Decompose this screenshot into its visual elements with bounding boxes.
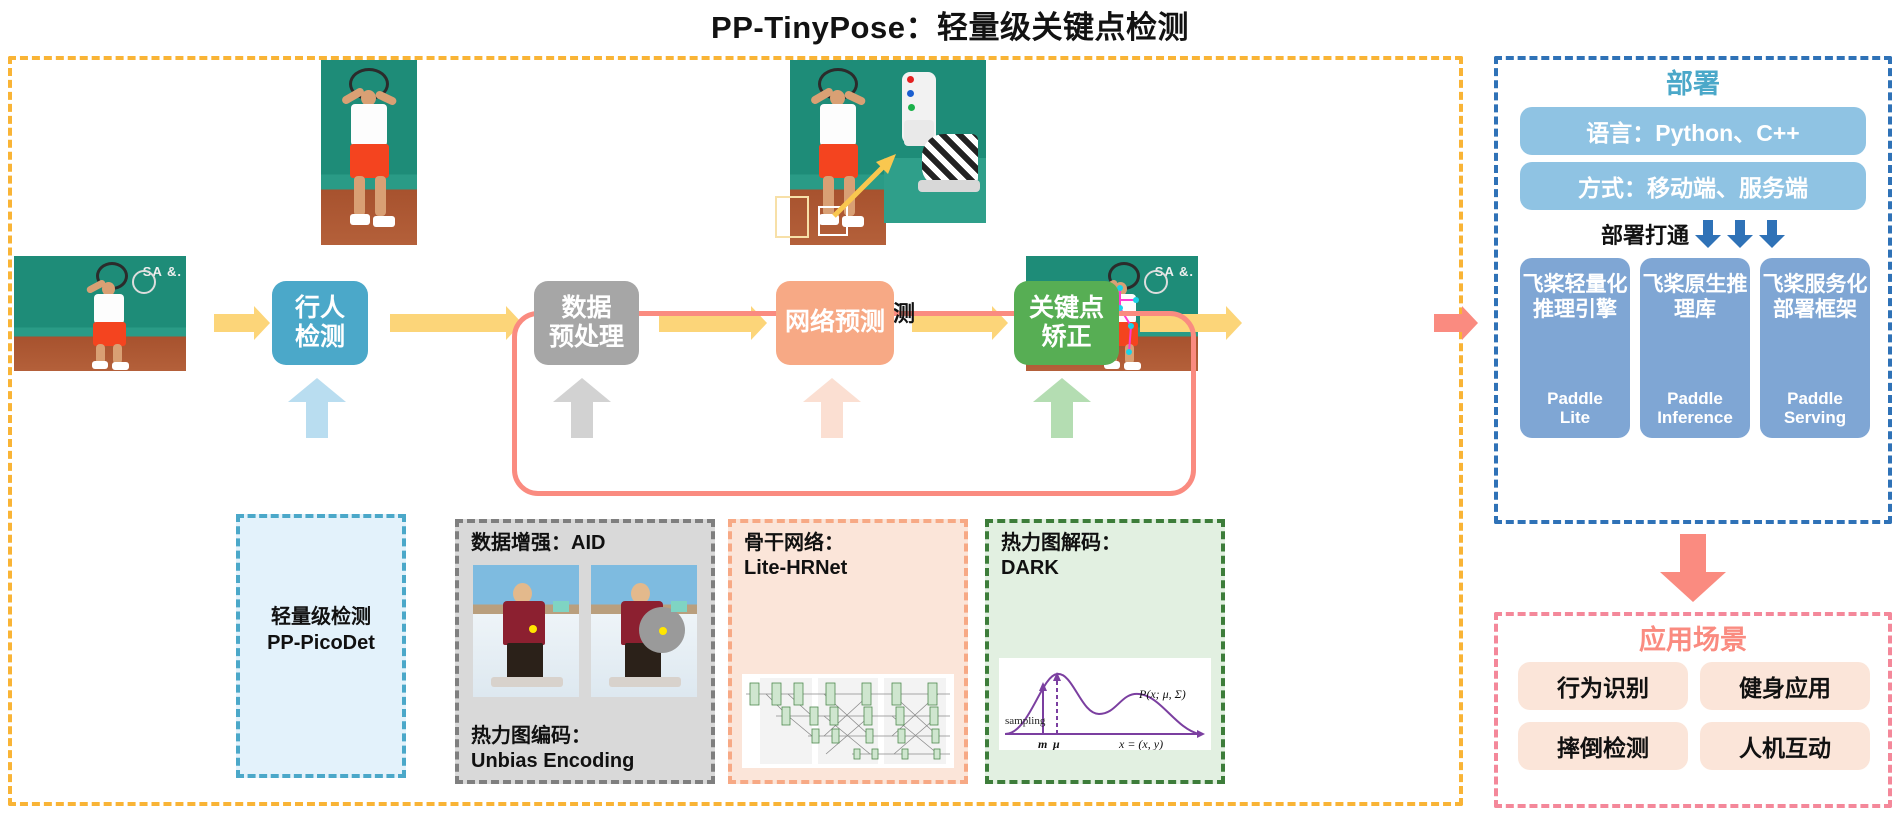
down-arrow-icon-3 [1759,220,1785,248]
apps-panel-title: 应用场景 [1494,618,1892,657]
dark-label-pdf: P(x; μ, Σ) [1138,687,1186,701]
augment-image-original [473,565,579,697]
pipeline-step-preprocess[interactable]: 数据预处理 [534,281,639,365]
zoom-callout-arrow [830,150,900,222]
detail-data-augmentation: 数据增强：AID 热力图编码： Unbias Encoding [455,519,715,784]
deploy-product-2-sub: PaddleInference [1640,389,1750,428]
page-title: PP-TinyPose：轻量级关键点检测 [0,2,1900,47]
deploy-throughput-label: 部署打通 [1601,218,1689,250]
deploy-language-row: 语言：Python、C++ [1520,107,1866,155]
app-item-human-computer-interaction[interactable]: 人机互动 [1700,722,1870,770]
detail-person-detection: 轻量级检测 PP-PicoDet [236,514,406,778]
uparrow-correction [1033,378,1091,438]
tennis-photo-cropped-top-left [321,60,417,245]
detail-person-detection-text: 轻量级检测 PP-PicoDet [240,604,402,656]
deploy-product-paddle-lite[interactable]: 飞桨轻量化推理引擎 PaddleLite [1520,258,1630,438]
dark-label-sampling: sampling [1005,715,1046,727]
deploy-to-apps-arrow [1660,534,1726,602]
deploy-product-paddle-serving[interactable]: 飞桨服务化部署框架 PaddleServing [1760,258,1870,438]
deploy-product-1-name: 飞桨轻量化推理引擎 [1523,273,1628,321]
uparrow-person-detect [288,378,346,438]
deploy-product-paddle-inference[interactable]: 飞桨原生推理库 PaddleInference [1640,258,1750,438]
detail-augment-foot: 热力图编码： Unbias Encoding [459,724,711,774]
deploy-product-3-sub: PaddleServing [1760,389,1870,428]
dark-label-m: m [1038,737,1047,750]
pipeline-step-person-detection-label: 行人检测 [295,294,345,353]
hrnet-architecture-figure [742,674,954,768]
flow-arrow-to-deploy [1434,314,1464,332]
deploy-product-1-sub: PaddleLite [1520,389,1630,428]
detail-backbone: 骨干网络： Lite-HRNet [728,519,968,784]
detail-augment-head: 数据增强：AID [459,523,711,556]
dark-label-mu: μ [1052,737,1060,750]
detail-heatmap-decode: 热力图解码： DARK sampling m μ P(x; μ, Σ) x = … [985,519,1225,784]
flow-arrow-1 [214,314,256,332]
deploy-product-3-name: 飞桨服务化部署框架 [1763,273,1868,321]
app-item-fitness[interactable]: 健身应用 [1700,662,1870,710]
down-arrow-icon-1 [1695,220,1721,248]
deploy-panel-title: 部署 [1494,62,1892,101]
pipeline-step-keypoint-correction-label: 关键点矫正 [1029,294,1104,353]
pipeline-step-person-detection[interactable]: 行人检测 [272,281,368,365]
dark-label-xaxis: x = (x, y) [1118,737,1163,750]
app-item-action-recognition[interactable]: 行为识别 [1518,662,1688,710]
pipeline-step-preprocess-label: 数据预处理 [549,294,624,353]
detail-backbone-head: 骨干网络： Lite-HRNet [732,523,964,581]
augment-image-occluded [591,565,697,697]
zoom-callout-box [775,196,809,238]
dark-gaussian-figure: sampling m μ P(x; μ, Σ) x = (x, y) [999,658,1211,750]
detail-decode-head: 热力图解码： DARK [989,523,1221,581]
app-item-fall-detection[interactable]: 摔倒检测 [1518,722,1688,770]
deploy-product-2-name: 飞桨原生推理库 [1643,273,1748,321]
pipeline-step-keypoint-correction[interactable]: 关键点矫正 [1014,281,1119,365]
deploy-throughput-row: 部署打通 [1520,218,1866,250]
input-photo: SA &. [14,256,186,371]
deploy-mode-row: 方式：移动端、服务端 [1520,162,1866,210]
pipeline-step-network-prediction-label: 网络预测 [785,308,885,338]
down-arrow-icon-2 [1727,220,1753,248]
pipeline-step-network-prediction[interactable]: 网络预测 [776,281,894,365]
uparrow-network [803,378,861,438]
uparrow-preprocess [553,378,611,438]
flow-arrow-2 [390,314,508,332]
